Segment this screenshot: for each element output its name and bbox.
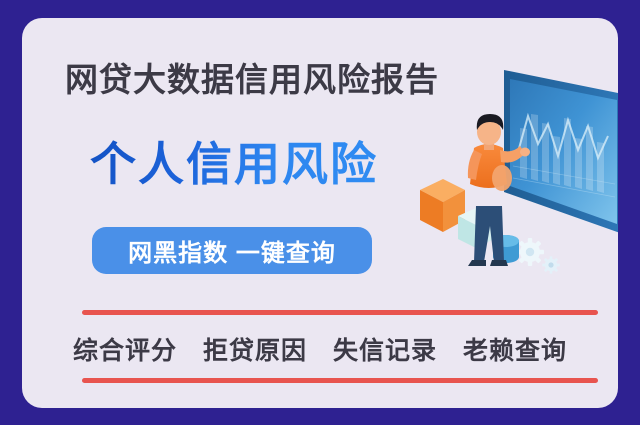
page-title: 网贷大数据信用风险报告 — [65, 61, 439, 99]
divider-top — [82, 310, 598, 315]
feature-item-reason[interactable]: 拒贷原因 — [203, 331, 307, 367]
sub-headline: 个人信用风险 — [90, 138, 378, 190]
banner-root: 网贷大数据信用风险报告 个人信用风险 网黑指数 一键查询 综合评分 拒贷原因 失… — [0, 0, 640, 425]
gears-icon — [516, 238, 560, 274]
hero-illustration — [398, 66, 618, 296]
feature-list: 综合评分 拒贷原因 失信记录 老赖查询 — [22, 331, 618, 367]
feature-item-deadbeat[interactable]: 老赖查询 — [463, 331, 567, 367]
query-button-label: 网黑指数 一键查询 — [128, 233, 336, 268]
query-button[interactable]: 网黑指数 一键查询 — [92, 227, 372, 274]
content-card: 网贷大数据信用风险报告 个人信用风险 网黑指数 一键查询 综合评分 拒贷原因 失… — [22, 18, 618, 408]
feature-item-score[interactable]: 综合评分 — [73, 331, 177, 367]
feature-item-record[interactable]: 失信记录 — [333, 331, 437, 367]
divider-bottom — [82, 378, 598, 383]
